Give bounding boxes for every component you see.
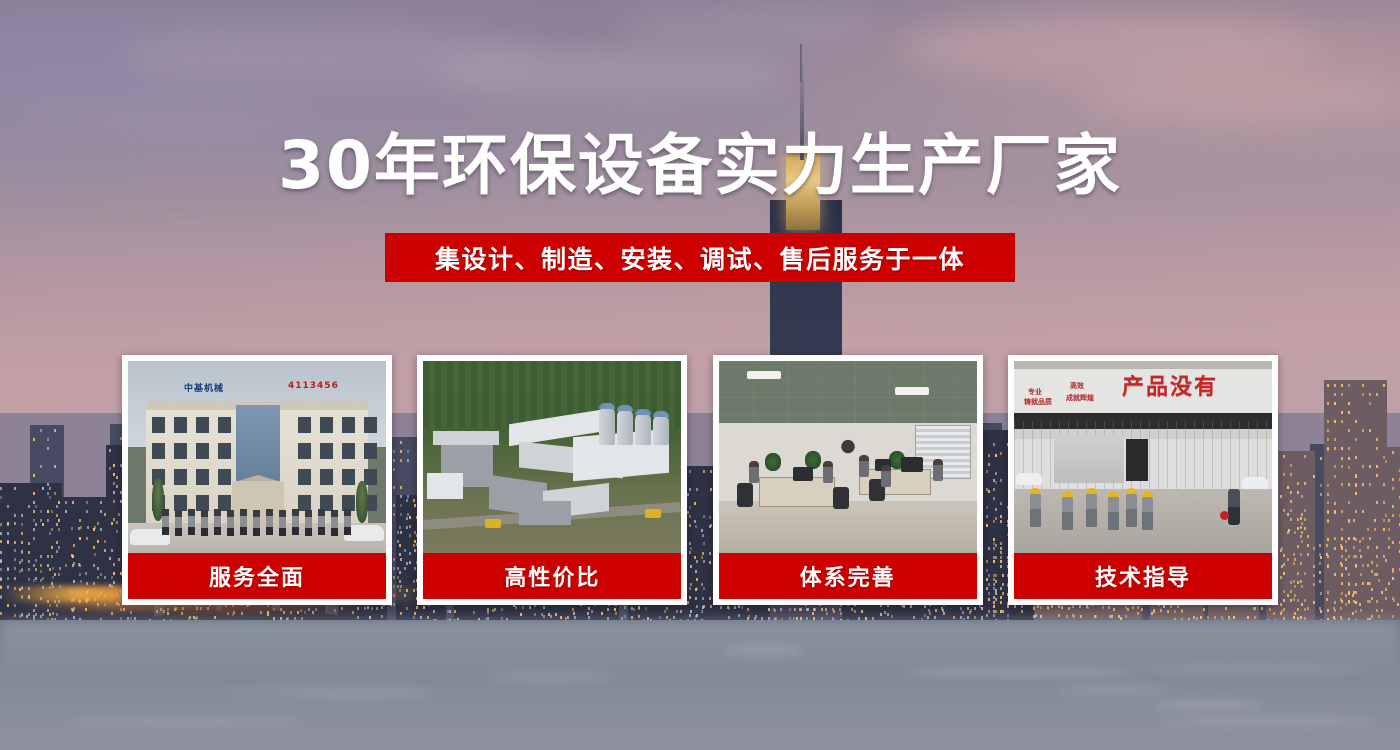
staff-person bbox=[292, 509, 299, 535]
skyline-building bbox=[48, 497, 109, 630]
card-label-bar: 服务全面 bbox=[128, 553, 386, 599]
building-window bbox=[342, 469, 355, 485]
staff-person bbox=[214, 509, 221, 535]
card-photo-workers-briefing: 产品没有 专业 高效 铸就品质 成就辉煌 bbox=[1014, 361, 1272, 553]
worker-person bbox=[1030, 493, 1041, 527]
building-window bbox=[196, 443, 209, 459]
card-photo-headquarters: 中基机械 4113456 bbox=[128, 361, 386, 553]
building-window bbox=[298, 443, 311, 459]
staff-person bbox=[266, 509, 273, 535]
building-window bbox=[218, 417, 231, 433]
worker-person bbox=[1142, 496, 1153, 530]
building-sign-text: 中基机械 bbox=[184, 381, 224, 394]
hero-banner: 30年环保设备实力生产厂家 集设计、制造、安装、调试、售后服务于一体 中基机械 … bbox=[0, 0, 1400, 750]
hard-hat bbox=[1108, 491, 1119, 497]
water-reflection bbox=[903, 670, 1137, 676]
building-window bbox=[298, 417, 311, 433]
hard-hat bbox=[1030, 488, 1041, 494]
hard-hat bbox=[1142, 491, 1153, 497]
card-label-bar: 高性价比 bbox=[423, 553, 681, 599]
building-window bbox=[364, 443, 377, 459]
factory-sign-small: 铸就品质 bbox=[1024, 397, 1052, 407]
worker-person bbox=[1062, 496, 1073, 530]
building-window bbox=[174, 443, 187, 459]
staff-person bbox=[318, 509, 325, 535]
building-window bbox=[152, 443, 165, 459]
building-window bbox=[196, 469, 209, 485]
feature-card[interactable]: 中基机械 4113456 服务全面 bbox=[122, 355, 392, 605]
subtitle-banner: 集设计、制造、安装、调试、售后服务于一体 bbox=[385, 233, 1015, 282]
card-photo-industrial-plant bbox=[423, 361, 681, 553]
factory-sign-text: 产品没有 bbox=[1122, 369, 1218, 401]
hard-hat bbox=[1086, 488, 1097, 494]
building-window bbox=[342, 443, 355, 459]
staff-person bbox=[240, 509, 247, 535]
staff-person bbox=[188, 509, 195, 535]
wall-logo bbox=[831, 431, 865, 457]
staff-person bbox=[201, 510, 208, 536]
building-window bbox=[320, 469, 333, 485]
building-window bbox=[364, 417, 377, 433]
tower-antenna bbox=[800, 44, 802, 82]
page-title: 30年环保设备实力生产厂家 bbox=[0, 133, 1400, 199]
building-window bbox=[196, 495, 209, 511]
factory-sign-small: 高效 bbox=[1070, 381, 1084, 391]
cloud bbox=[1080, 76, 1400, 120]
staff-person bbox=[279, 510, 286, 536]
cloud bbox=[20, 96, 320, 136]
water-reflection bbox=[1056, 687, 1172, 692]
building-window bbox=[320, 443, 333, 459]
building-phone-text: 4113456 bbox=[288, 381, 339, 391]
subtitle-text: 集设计、制造、安装、调试、售后服务于一体 bbox=[435, 240, 965, 276]
staff-person bbox=[253, 510, 260, 536]
feature-card[interactable]: 产品没有 专业 高效 铸就品质 成就辉煌 技术指导 bbox=[1008, 355, 1278, 605]
worker-person bbox=[1108, 496, 1119, 530]
skyline-building bbox=[1324, 380, 1387, 630]
card-photo-office-interior bbox=[719, 361, 977, 553]
building-window bbox=[174, 469, 187, 485]
cloud bbox=[430, 48, 790, 100]
building-window bbox=[298, 469, 311, 485]
water-reflection bbox=[1137, 667, 1368, 671]
card-label-bar: 技术指导 bbox=[1014, 553, 1272, 599]
building-window bbox=[342, 417, 355, 433]
staff-person bbox=[175, 510, 182, 536]
building-window bbox=[364, 469, 377, 485]
building-window bbox=[174, 495, 187, 511]
skyline-building bbox=[1382, 447, 1400, 630]
staff-person bbox=[344, 509, 351, 535]
building-window bbox=[152, 417, 165, 433]
card-label-text: 服务全面 bbox=[209, 560, 305, 592]
building-window bbox=[174, 417, 187, 433]
factory-sign-small: 成就辉煌 bbox=[1066, 393, 1094, 403]
staff-person bbox=[305, 510, 312, 536]
hard-hat bbox=[1126, 488, 1137, 494]
feature-card-row: 中基机械 4113456 服务全面 bbox=[122, 355, 1278, 605]
factory-sign-small: 专业 bbox=[1028, 387, 1042, 397]
water-sheen bbox=[0, 620, 1400, 680]
hard-hat bbox=[1062, 491, 1073, 497]
building-window bbox=[218, 469, 231, 485]
staff-person bbox=[331, 510, 338, 536]
building-window bbox=[218, 443, 231, 459]
building-window bbox=[196, 417, 209, 433]
cloud bbox=[620, 6, 880, 46]
water-reflection bbox=[722, 648, 805, 654]
card-label-bar: 体系完善 bbox=[719, 553, 977, 599]
cloud bbox=[900, 14, 1320, 80]
building-window bbox=[320, 417, 333, 433]
card-label-text: 高性价比 bbox=[504, 560, 600, 592]
water-reflection bbox=[218, 690, 442, 693]
water-reflection bbox=[1154, 702, 1262, 708]
feature-card[interactable]: 高性价比 bbox=[417, 355, 687, 605]
staff-person bbox=[162, 509, 169, 535]
worker-person bbox=[1126, 493, 1137, 527]
water-reflection bbox=[63, 720, 308, 724]
feature-card[interactable]: 体系完善 bbox=[713, 355, 983, 605]
staff-person bbox=[227, 510, 234, 536]
worker-person bbox=[1086, 493, 1097, 527]
card-label-text: 技术指导 bbox=[1095, 560, 1191, 592]
card-label-text: 体系完善 bbox=[800, 560, 896, 592]
building-window bbox=[298, 495, 311, 511]
